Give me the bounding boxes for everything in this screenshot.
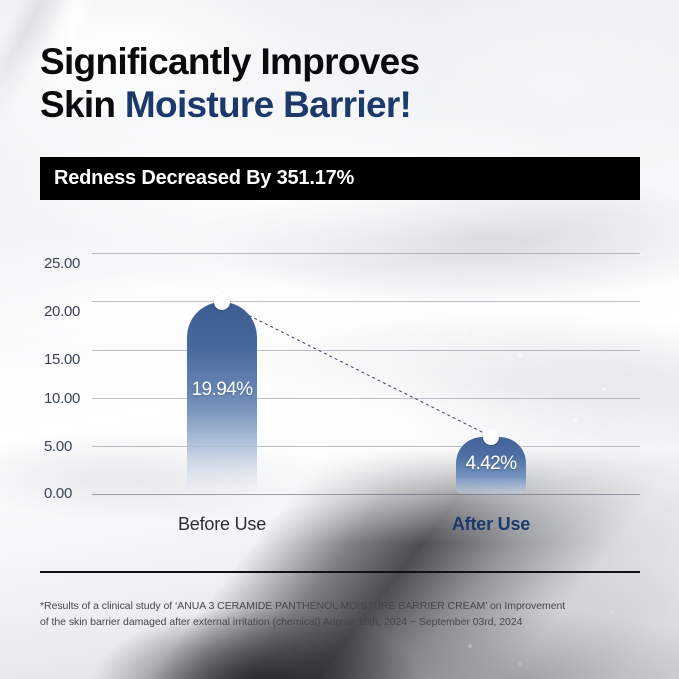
data-point-marker-after-use	[483, 429, 499, 445]
bar-before-use-value: 19.94%	[187, 379, 257, 401]
footnote: *Results of a clinical study of ‘ANUA 3 …	[40, 598, 648, 631]
footnote-divider	[40, 571, 640, 573]
promo-infographic: Significantly Improves Skin Moisture Bar…	[0, 0, 679, 679]
x-axis-label-before-use: Before Use	[162, 514, 282, 535]
bar-after-use-value: 4.42%	[456, 453, 526, 475]
bar-after-use: 4.42%	[456, 437, 526, 494]
footnote-line-2: of the skin barrier damaged after extern…	[40, 614, 648, 630]
data-point-marker-before-use	[214, 294, 230, 310]
trend-connector-line	[0, 0, 679, 679]
bar-chart: 25.00 20.00 15.00 10.00 5.00 0.00 19.94%…	[0, 0, 679, 679]
footnote-line-1: *Results of a clinical study of ‘ANUA 3 …	[40, 598, 648, 614]
bar-before-use: 19.94%	[187, 302, 257, 494]
x-axis-label-after-use: After Use	[431, 514, 551, 535]
